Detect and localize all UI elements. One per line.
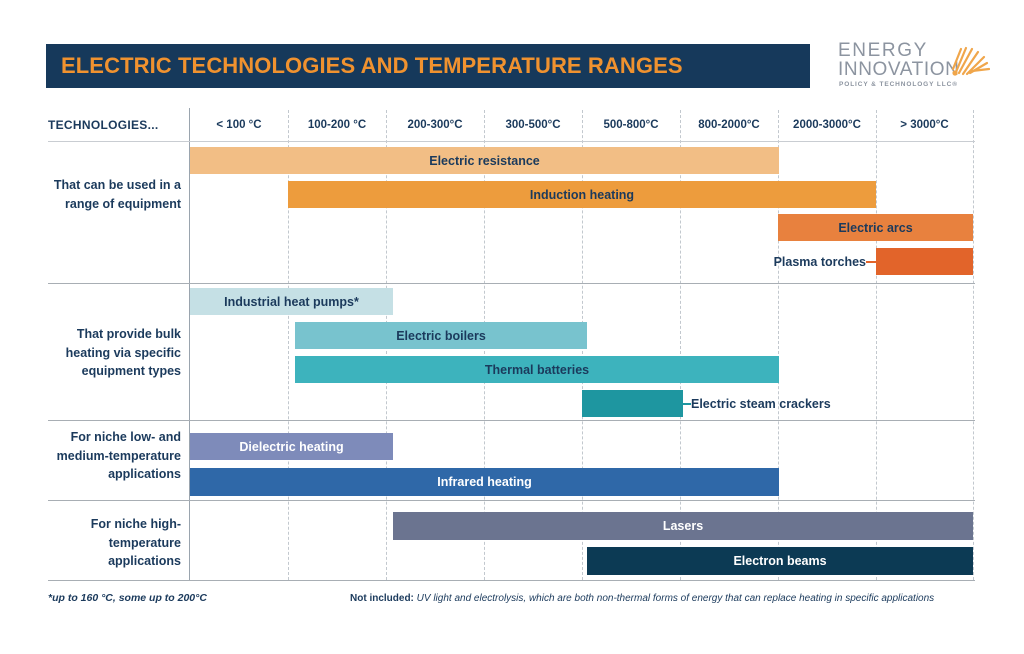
row-label-group-3: For niche high-temperature applications bbox=[48, 515, 181, 571]
column-header-0: < 100 °C bbox=[190, 112, 288, 138]
bar-label-infrared-heating: Infrared heating bbox=[437, 475, 531, 489]
bar-label-electric-resistance: Electric resistance bbox=[429, 154, 540, 168]
sunburst-icon bbox=[942, 38, 990, 78]
bar-label-dielectric-heating: Dielectric heating bbox=[239, 440, 343, 454]
logo-tagline: POLICY & TECHNOLOGY LLC® bbox=[839, 81, 958, 88]
grid-vline-right bbox=[973, 110, 974, 580]
column-header-technologies: TECHNOLOGIES... bbox=[48, 112, 181, 138]
leader-plasma-torches bbox=[866, 261, 878, 263]
leader-electric-steam-crackers bbox=[683, 403, 691, 405]
bar-label-plasma-torches: Plasma torches bbox=[686, 248, 866, 275]
bar-dielectric-heating[interactable]: Dielectric heating bbox=[190, 433, 393, 460]
logo: ENERGY INNOVATION POLICY & TECHNOLOGY LL… bbox=[838, 38, 988, 92]
bar-label-electron-beams: Electron beams bbox=[733, 554, 826, 568]
footnote-left: *up to 160 °C, some up to 200°C bbox=[48, 592, 207, 604]
footnote-right-italic: UV light and electrolysis, which are bot… bbox=[414, 593, 934, 604]
column-header-4: 500-800°C bbox=[582, 112, 680, 138]
bar-label-lasers: Lasers bbox=[663, 519, 703, 533]
divider-group-2 bbox=[48, 420, 975, 421]
divider-bottom bbox=[48, 580, 975, 581]
footnote-right: Not included: UV light and electrolysis,… bbox=[350, 593, 934, 604]
row-label-group-0: That can be used in a range of equipment bbox=[48, 176, 181, 213]
footnote-right-bold: Not included: bbox=[350, 593, 414, 604]
bar-electric-boilers[interactable]: Electric boilers bbox=[295, 322, 587, 349]
column-header-5: 800-2000°C bbox=[680, 112, 778, 138]
bar-industrial-heat-pumps[interactable]: Industrial heat pumps* bbox=[190, 288, 393, 315]
bar-label-thermal-batteries: Thermal batteries bbox=[485, 363, 589, 377]
row-label-group-2: For niche low- and medium-temperature ap… bbox=[48, 428, 181, 484]
grid-vline-left bbox=[189, 108, 190, 580]
bar-label-electric-boilers: Electric boilers bbox=[396, 329, 486, 343]
column-header-6: 2000-3000°C bbox=[778, 112, 876, 138]
bar-label-electric-steam-crackers: Electric steam crackers bbox=[691, 390, 911, 417]
title-bar: ELECTRIC TECHNOLOGIES AND TEMPERATURE RA… bbox=[46, 44, 810, 88]
divider-group-1 bbox=[48, 283, 975, 284]
bar-label-electric-arcs: Electric arcs bbox=[838, 221, 912, 235]
column-header-7: > 3000°C bbox=[876, 112, 973, 138]
bar-electric-steam-crackers[interactable] bbox=[582, 390, 683, 417]
divider-header bbox=[48, 141, 975, 142]
bar-thermal-batteries[interactable]: Thermal batteries bbox=[295, 356, 779, 383]
page-title: ELECTRIC TECHNOLOGIES AND TEMPERATURE RA… bbox=[46, 53, 683, 79]
bar-electric-resistance[interactable]: Electric resistance bbox=[190, 147, 779, 174]
grid-vline-7 bbox=[876, 110, 877, 580]
infographic-canvas: ELECTRIC TECHNOLOGIES AND TEMPERATURE RA… bbox=[0, 0, 1024, 654]
bar-electron-beams[interactable]: Electron beams bbox=[587, 547, 973, 575]
bar-lasers[interactable]: Lasers bbox=[393, 512, 973, 540]
bar-infrared-heating[interactable]: Infrared heating bbox=[190, 468, 779, 496]
column-header-1: 100-200 °C bbox=[288, 112, 386, 138]
logo-line-energy: ENERGY bbox=[838, 41, 928, 60]
column-header-3: 300-500°C bbox=[484, 112, 582, 138]
bar-induction-heating[interactable]: Induction heating bbox=[288, 181, 876, 208]
column-header-2: 200-300°C bbox=[386, 112, 484, 138]
bar-plasma-torches[interactable] bbox=[876, 248, 973, 275]
bar-label-induction-heating: Induction heating bbox=[530, 188, 634, 202]
row-label-group-1: That provide bulk heating via specific e… bbox=[48, 325, 181, 381]
bar-label-industrial-heat-pumps: Industrial heat pumps* bbox=[224, 295, 359, 309]
divider-group-3 bbox=[48, 500, 975, 501]
bar-electric-arcs[interactable]: Electric arcs bbox=[778, 214, 973, 241]
